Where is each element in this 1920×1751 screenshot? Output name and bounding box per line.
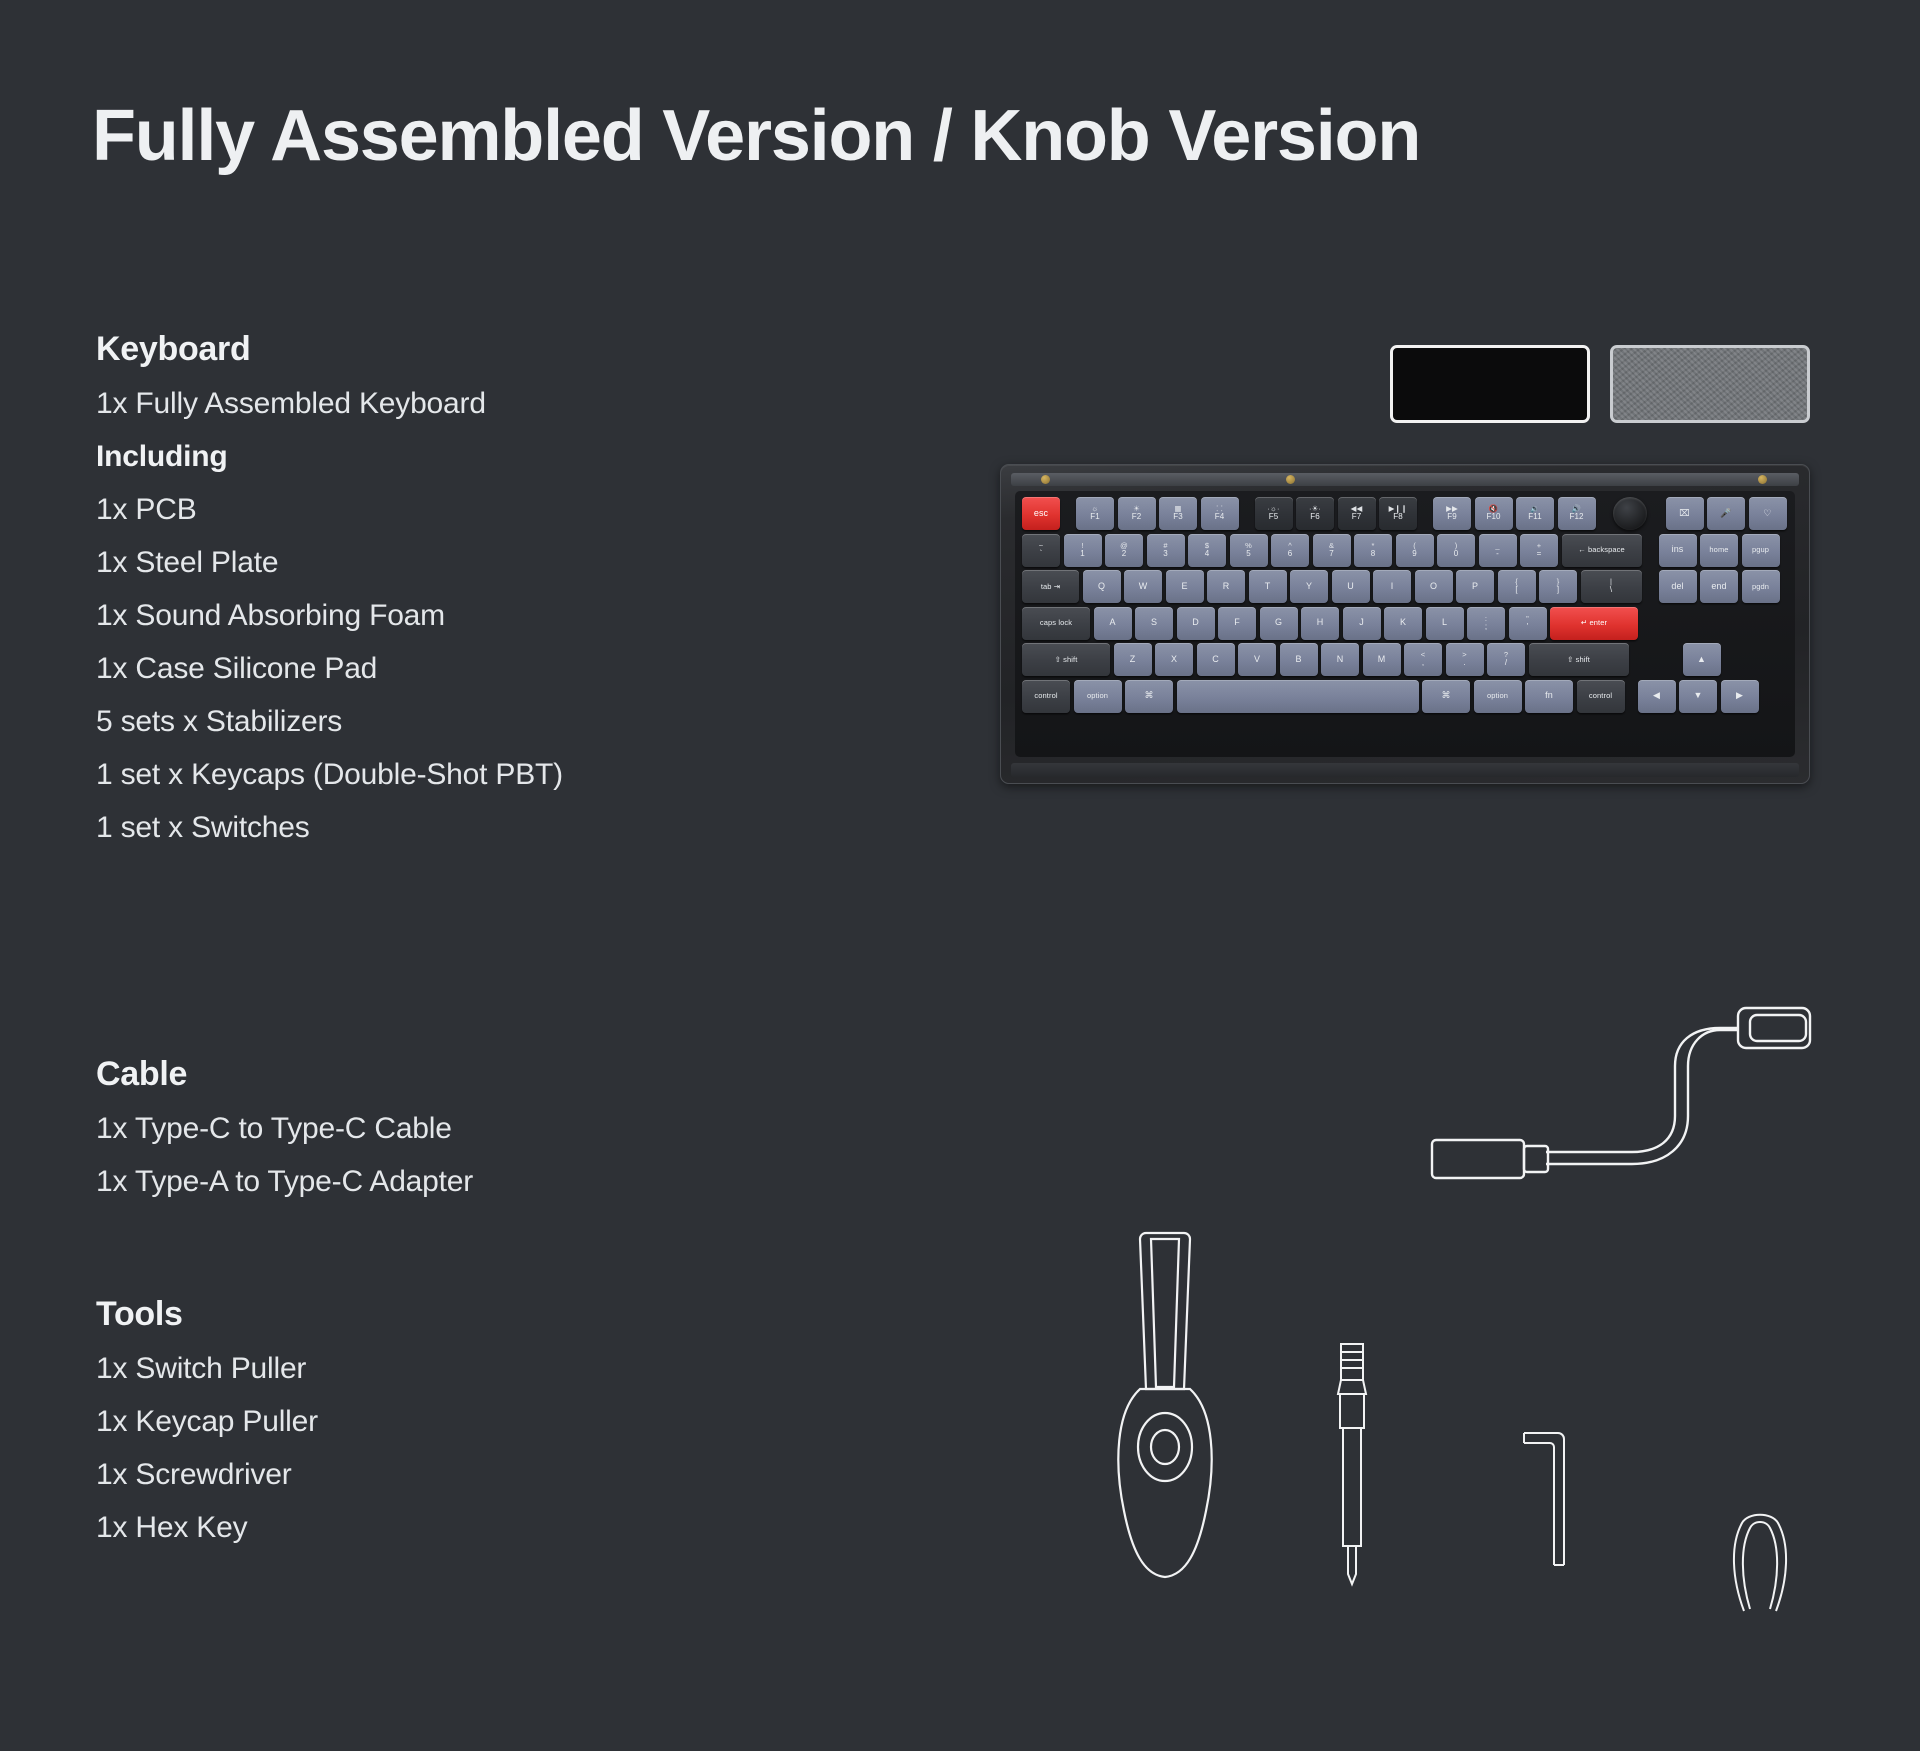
keycap-legend-top: ▦ <box>1174 505 1181 513</box>
keycap-legend: N <box>1337 655 1344 664</box>
keycap-legend: M <box>1378 655 1386 664</box>
keycap-legend-top: ( <box>1413 542 1416 550</box>
keycap-legend: Y <box>1306 582 1312 591</box>
keycap-6[interactable]: ^6 <box>1271 534 1309 567</box>
section-heading: Keyboard <box>96 330 816 369</box>
list-item: 1x Type-C to Type-C Cable <box>96 1112 816 1146</box>
keycap-pgdn[interactable]: pgdn <box>1742 570 1780 603</box>
keycap-legend: esc <box>1034 509 1048 518</box>
keycap-legend-bottom: F10 <box>1486 513 1500 521</box>
keycap-blank[interactable]: }] <box>1539 570 1577 603</box>
keycap-4[interactable]: $4 <box>1188 534 1226 567</box>
keycap-shift[interactable]: ⇧ shift <box>1529 643 1629 676</box>
keycap-legend: E <box>1181 582 1187 591</box>
key-gap <box>1650 497 1662 530</box>
keycap-legend: C <box>1212 655 1219 664</box>
keycap-legend-top: ▶❙❙ <box>1389 505 1408 513</box>
keycap-legend: control <box>1034 692 1057 700</box>
keycap-blank[interactable]: ⌘ <box>1125 680 1173 713</box>
key-gap <box>1645 570 1655 603</box>
keycap-n[interactable]: N <box>1321 643 1359 676</box>
keycap-legend-bottom: / <box>1505 659 1507 667</box>
keycap-f7[interactable]: ◀◀F7 <box>1338 497 1376 530</box>
keycap-blank[interactable]: ◀ <box>1638 680 1676 713</box>
keycap-legend-bottom: 2 <box>1122 550 1127 558</box>
key-gap <box>1064 497 1073 530</box>
keycap-legend-bottom: - <box>1496 550 1499 558</box>
list-item: Including <box>96 440 816 474</box>
key-gap <box>1628 680 1634 713</box>
keycap-ins[interactable]: ins <box>1659 534 1697 567</box>
keycap-legend-top: & <box>1329 542 1334 550</box>
keycap-legend-top: ) <box>1455 542 1458 550</box>
keycap-legend: V <box>1254 655 1260 664</box>
keycap-legend: ⌘ <box>1144 691 1153 700</box>
black-foam-swatch <box>1390 345 1590 423</box>
keycap-legend: ▼ <box>1693 691 1702 700</box>
keycap-legend-bottom: ] <box>1557 586 1559 594</box>
keycap-blank[interactable]: "' <box>1509 607 1547 640</box>
keycap-f3[interactable]: ▦F3 <box>1159 497 1197 530</box>
keycap-puller-illustration <box>1720 1505 1800 1615</box>
keycap-legend-bottom: ; <box>1485 623 1487 631</box>
keycap-legend-top: | <box>1610 578 1612 586</box>
keycap-legend: Z <box>1130 655 1136 664</box>
keycap-legend-bottom: . <box>1463 659 1465 667</box>
list-item: 1x PCB <box>96 493 816 527</box>
keycap-legend-bottom: F11 <box>1528 513 1542 521</box>
keycap-legend-bottom: 9 <box>1412 550 1417 558</box>
screw-icon <box>1758 475 1767 484</box>
list-item: 1x Switch Puller <box>96 1352 816 1386</box>
keycap-legend: B <box>1295 655 1301 664</box>
keycap-legend: G <box>1275 618 1282 627</box>
keycap-key[interactable] <box>1177 680 1419 713</box>
keycap-legend: S <box>1151 618 1157 627</box>
keycap-legend-bottom: ` <box>1040 550 1043 558</box>
keycap-knob[interactable] <box>1613 497 1647 530</box>
keycap-legend-bottom: 4 <box>1205 550 1210 558</box>
keycap-legend: H <box>1317 618 1324 627</box>
product-contents-slide: Fully Assembled Version / Knob Version K… <box>0 0 1920 1751</box>
keycap-legend-top: ~ <box>1039 542 1043 550</box>
keycap-legend-top: % <box>1245 542 1252 550</box>
keycap-legend-top: + <box>1537 542 1541 550</box>
page-title: Fully Assembled Version / Knob Version <box>92 95 1420 177</box>
keycap-v[interactable]: V <box>1238 643 1276 676</box>
keycap-legend-bottom: 3 <box>1163 550 1168 558</box>
keycap-legend-top: } <box>1557 578 1560 586</box>
keycap-legend-bottom: , <box>1422 659 1424 667</box>
list-item: 5 sets x Stabilizers <box>96 705 816 739</box>
section-keyboard: Keyboard 1x Fully Assembled Keyboard Inc… <box>96 330 816 864</box>
keycap-legend-top: @ <box>1120 542 1128 550</box>
keycap-legend: ↵ enter <box>1581 619 1607 627</box>
keycap-blank[interactable]: ?/ <box>1487 643 1525 676</box>
keycap-legend-bottom: F12 <box>1569 513 1583 521</box>
keycap-legend: end <box>1711 582 1726 591</box>
keycap-legend-bottom: 0 <box>1454 550 1459 558</box>
keycap-f9[interactable]: ▶▶F9 <box>1433 497 1471 530</box>
keycap-legend-top: > <box>1462 651 1466 659</box>
hex-key-illustration <box>1520 1425 1580 1575</box>
key-gap <box>1421 497 1430 530</box>
keycap-legend-top: $ <box>1205 542 1209 550</box>
keycap-p[interactable]: P <box>1456 570 1494 603</box>
keycap-legend: pgdn <box>1752 583 1769 591</box>
keycap-legend-top: ? <box>1504 651 1508 659</box>
list-item: 1x Fully Assembled Keyboard <box>96 387 816 421</box>
keycap-option[interactable]: option <box>1474 680 1522 713</box>
keycap-legend: caps lock <box>1040 619 1072 627</box>
keycap-z[interactable]: Z <box>1114 643 1152 676</box>
list-item: 1x Screwdriver <box>96 1458 816 1492</box>
keycap-t[interactable]: T <box>1249 570 1287 603</box>
keycap-legend: ← backspace <box>1578 546 1625 554</box>
keycap-r[interactable]: R <box>1207 570 1245 603</box>
keycap-legend: F <box>1234 618 1240 627</box>
keycap-blank[interactable]: >. <box>1446 643 1484 676</box>
keycap-legend: home <box>1709 546 1728 554</box>
keycap-5[interactable]: %5 <box>1230 534 1268 567</box>
keycap-legend-bottom: 6 <box>1288 550 1293 558</box>
list-item: 1 set x Keycaps (Double-Shot PBT) <box>96 758 816 792</box>
keycap-legend: X <box>1171 655 1177 664</box>
keycap-legend: P <box>1472 582 1478 591</box>
material-swatches <box>1390 345 1810 423</box>
keycap-legend-top: { <box>1515 578 1518 586</box>
keycap-f6[interactable]: ·☀·F6 <box>1296 497 1334 530</box>
keycap-legend: Q <box>1098 582 1105 591</box>
keycap-legend-top: * <box>1371 542 1374 550</box>
keycap-legend: ◀ <box>1653 691 1660 700</box>
keycap-legend-bottom: ' <box>1527 623 1529 631</box>
keycap-b[interactable]: B <box>1280 643 1318 676</box>
section-heading: Tools <box>96 1295 816 1334</box>
list-item: 1x Keycap Puller <box>96 1405 816 1439</box>
keycap-option[interactable]: option <box>1074 680 1122 713</box>
keycap-pgup[interactable]: pgup <box>1742 534 1780 567</box>
section-cable: Cable 1x Type-C to Type-C Cable 1x Type-… <box>96 1055 816 1218</box>
keycap-legend-top: 🔉 <box>1530 505 1539 513</box>
keycap-a[interactable]: A <box>1094 607 1132 640</box>
key-gap <box>1242 497 1251 530</box>
keycap-legend-top: 🔇 <box>1489 505 1498 513</box>
keycap-y[interactable]: Y <box>1290 570 1328 603</box>
keycap-f[interactable]: F <box>1218 607 1256 640</box>
keycap-h[interactable]: H <box>1301 607 1339 640</box>
keycap-k[interactable]: K <box>1384 607 1422 640</box>
keycap-9[interactable]: (9 <box>1396 534 1434 567</box>
keycap-c[interactable]: C <box>1197 643 1235 676</box>
keycap-legend-bottom: = <box>1537 550 1542 558</box>
keycap-legend: K <box>1400 618 1406 627</box>
keycap-s[interactable]: S <box>1135 607 1173 640</box>
keycap-j[interactable]: J <box>1343 607 1381 640</box>
keycap-blank[interactable]: :; <box>1467 607 1505 640</box>
keycap-legend-top: ☼ <box>1092 505 1099 513</box>
keycap-blank[interactable]: ~` <box>1022 534 1060 567</box>
keycap-f10[interactable]: 🔇F10 <box>1475 497 1513 530</box>
keycap-blank[interactable]: ▼ <box>1679 680 1717 713</box>
keycap-blank[interactable]: ⌘ <box>1422 680 1470 713</box>
keycap-legend-bottom: F9 <box>1447 513 1457 521</box>
keycap-legend-top: ·☼· <box>1267 505 1279 513</box>
keycap-f1[interactable]: ☼F1 <box>1076 497 1114 530</box>
keycap-end[interactable]: end <box>1700 570 1738 603</box>
keycap-blank[interactable]: 🎤 <box>1707 497 1745 530</box>
keycap-legend-top: ^ <box>1288 542 1292 550</box>
keyboard-row-number-row: ~`!1@2#3$4%5^6&7*8(9)0_-+=← backspaceins… <box>1022 534 1788 567</box>
keycap-legend-bottom: F3 <box>1173 513 1183 521</box>
keycap-legend: pgup <box>1752 546 1769 554</box>
keycap-legend: ▶ <box>1736 691 1743 700</box>
keyboard-render: esc☼F1☀F2▦F3⸬F4·☼·F5·☀·F6◀◀F7▶❙❙F8▶▶F9🔇F… <box>1000 464 1810 784</box>
keycap-esc[interactable]: esc <box>1022 497 1060 530</box>
keycap-legend: U <box>1347 582 1354 591</box>
keycap-control[interactable]: control <box>1022 680 1070 713</box>
keyboard-row-tab-row: tab ⇥QWERTYUIOP{[}]|\delendpgdn <box>1022 570 1788 603</box>
keycap-x[interactable]: X <box>1155 643 1193 676</box>
key-gap <box>1645 534 1655 567</box>
list-item: 1x Case Silicone Pad <box>96 652 816 686</box>
keycap-l[interactable]: L <box>1426 607 1464 640</box>
keycap-legend-bottom: 7 <box>1329 550 1334 558</box>
keycap-f8[interactable]: ▶❙❙F8 <box>1379 497 1417 530</box>
keycap-legend: T <box>1265 582 1271 591</box>
keyboard-row-shift-row: ⇧ shiftZXCVBNM<,>.?/⇧ shift▲ <box>1022 643 1788 676</box>
keycap-blank[interactable]: {[ <box>1498 570 1536 603</box>
keycap-legend: ins <box>1672 545 1684 554</box>
keycap-legend-bottom: \ <box>1610 586 1612 594</box>
keycap-legend: control <box>1589 692 1612 700</box>
keycap-legend-top: ☀ <box>1133 505 1140 513</box>
keycap-legend-top: ! <box>1081 542 1083 550</box>
keycap-m[interactable]: M <box>1363 643 1401 676</box>
keycap-legend: del <box>1671 582 1683 591</box>
keycap-legend-top: _ <box>1495 542 1499 550</box>
screwdriver-illustration <box>1330 1340 1374 1590</box>
keycap-8[interactable]: *8 <box>1354 534 1392 567</box>
keycap-legend-bottom: 8 <box>1371 550 1376 558</box>
grey-foam-swatch <box>1610 345 1810 423</box>
keycap-legend-bottom: 1 <box>1080 550 1085 558</box>
keycap-blank[interactable]: |\ <box>1581 570 1642 603</box>
screw-icon <box>1286 475 1295 484</box>
keycap-blank[interactable]: <, <box>1404 643 1442 676</box>
keycap-1[interactable]: !1 <box>1064 534 1102 567</box>
keycap-u[interactable]: U <box>1332 570 1370 603</box>
keycap-legend-top: : <box>1485 615 1487 623</box>
keycap-legend: O <box>1430 582 1437 591</box>
keycap-q[interactable]: Q <box>1083 570 1121 603</box>
keycap-legend-bottom: F7 <box>1352 513 1362 521</box>
keycap-legend: I <box>1391 582 1394 591</box>
keycap-legend: J <box>1359 618 1364 627</box>
keyboard-row-home-row: caps lockASDFGHJKL:;"'↵ enter <box>1022 607 1788 640</box>
keycap-legend: ⌧ <box>1679 509 1689 518</box>
keycap-backspace[interactable]: ← backspace <box>1562 534 1642 567</box>
keycap-legend-top: ◀◀ <box>1351 505 1363 513</box>
keycap-legend: fn <box>1545 691 1553 700</box>
keycap-f11[interactable]: 🔉F11 <box>1516 497 1554 530</box>
switch-puller-illustration <box>1110 1225 1220 1585</box>
keycap-legend: ⇧ shift <box>1567 656 1590 664</box>
keycap-d[interactable]: D <box>1177 607 1215 640</box>
section-tools: Tools 1x Switch Puller 1x Keycap Puller … <box>96 1295 816 1564</box>
keycap-legend-bottom: F6 <box>1310 513 1320 521</box>
keycap-f2[interactable]: ☀F2 <box>1118 497 1156 530</box>
key-gap <box>1642 607 1770 640</box>
keycap-o[interactable]: O <box>1415 570 1453 603</box>
keycap-f12[interactable]: 🔊F12 <box>1558 497 1596 530</box>
keycap-3[interactable]: #3 <box>1147 534 1185 567</box>
list-item: 1 set x Switches <box>96 811 816 845</box>
keycap-f4[interactable]: ⸬F4 <box>1201 497 1239 530</box>
keycap-legend: A <box>1109 618 1115 627</box>
keycap-legend-bottom: F1 <box>1090 513 1100 521</box>
keycap-blank[interactable]: _- <box>1479 534 1517 567</box>
keycap-control[interactable]: control <box>1577 680 1625 713</box>
keycap-home[interactable]: home <box>1700 534 1738 567</box>
keycap-legend: D <box>1192 618 1199 627</box>
keycap-blank[interactable]: += <box>1520 534 1558 567</box>
keycap-caps-lock[interactable]: caps lock <box>1022 607 1090 640</box>
keycap-shift[interactable]: ⇧ shift <box>1022 643 1110 676</box>
keycap-legend-bottom: F4 <box>1215 513 1225 521</box>
keycap-legend-top: # <box>1163 542 1167 550</box>
keycap-7[interactable]: &7 <box>1313 534 1351 567</box>
keycap-2[interactable]: @2 <box>1105 534 1143 567</box>
screw-icon <box>1041 475 1050 484</box>
keycap-legend: R <box>1223 582 1230 591</box>
keycap-blank[interactable]: ♡ <box>1749 497 1787 530</box>
keycap-legend-bottom: F5 <box>1269 513 1279 521</box>
keycap-legend: ▲ <box>1697 655 1706 664</box>
keycap-legend-top: ▶▶ <box>1446 505 1458 513</box>
keycap-0[interactable]: )0 <box>1437 534 1475 567</box>
keycap-enter[interactable]: ↵ enter <box>1550 607 1638 640</box>
keycap-blank[interactable]: ▶ <box>1721 680 1759 713</box>
keycap-legend: tab ⇥ <box>1041 583 1060 591</box>
keycap-tab[interactable]: tab ⇥ <box>1022 570 1079 603</box>
keycap-blank[interactable]: ▲ <box>1683 643 1721 676</box>
list-item: 1x Hex Key <box>96 1511 816 1545</box>
list-item: 1x Steel Plate <box>96 546 816 580</box>
list-item: 1x Type-A to Type-C Adapter <box>96 1165 816 1199</box>
keyboard-row-modifier-row: controloption⌘⌘optionfncontrol◀▼▶ <box>1022 680 1788 713</box>
keycap-legend-top: ·☀· <box>1309 505 1321 513</box>
list-item: 1x Sound Absorbing Foam <box>96 599 816 633</box>
keycap-legend: option <box>1087 692 1108 700</box>
keycap-legend: option <box>1487 692 1508 700</box>
section-heading: Cable <box>96 1055 816 1094</box>
keycap-legend-top: " <box>1526 615 1529 623</box>
keycap-legend-bottom: [ <box>1515 586 1517 594</box>
keycap-legend: ♡ <box>1763 509 1771 518</box>
keycap-i[interactable]: I <box>1373 570 1411 603</box>
keycap-legend-top: ⸬ <box>1216 505 1222 513</box>
key-gap <box>1632 643 1679 676</box>
keycap-legend-bottom: F2 <box>1132 513 1142 521</box>
keycap-legend: 🎤 <box>1720 509 1731 518</box>
keycap-legend-bottom: F8 <box>1393 513 1403 521</box>
usb-c-cable-illustration <box>1420 1000 1820 1220</box>
keycap-e[interactable]: E <box>1166 570 1204 603</box>
keycap-f5[interactable]: ·☼·F5 <box>1255 497 1293 530</box>
keycap-legend-top: < <box>1421 651 1425 659</box>
keycap-legend: ⌘ <box>1441 691 1450 700</box>
keycap-g[interactable]: G <box>1260 607 1298 640</box>
keycap-legend: ⇧ shift <box>1055 656 1078 664</box>
keyboard-bottom-bezel <box>1011 763 1799 777</box>
keyboard-top-bezel <box>1011 473 1799 486</box>
keycap-del[interactable]: del <box>1659 570 1697 603</box>
keycap-blank[interactable]: ⌧ <box>1666 497 1704 530</box>
keycap-field: esc☼F1☀F2▦F3⸬F4·☼·F5·☀·F6◀◀F7▶❙❙F8▶▶F9🔇F… <box>1015 491 1795 757</box>
keycap-legend-top: 🔊 <box>1572 505 1581 513</box>
keycap-legend: L <box>1442 618 1447 627</box>
keyboard-row-function-row: esc☼F1☀F2▦F3⸬F4·☼·F5·☀·F6◀◀F7▶❙❙F8▶▶F9🔇F… <box>1022 497 1788 530</box>
keycap-w[interactable]: W <box>1124 570 1162 603</box>
keycap-fn[interactable]: fn <box>1525 680 1573 713</box>
key-gap <box>1599 497 1609 530</box>
keycap-legend-bottom: 5 <box>1246 550 1251 558</box>
keycap-legend: W <box>1139 582 1148 591</box>
